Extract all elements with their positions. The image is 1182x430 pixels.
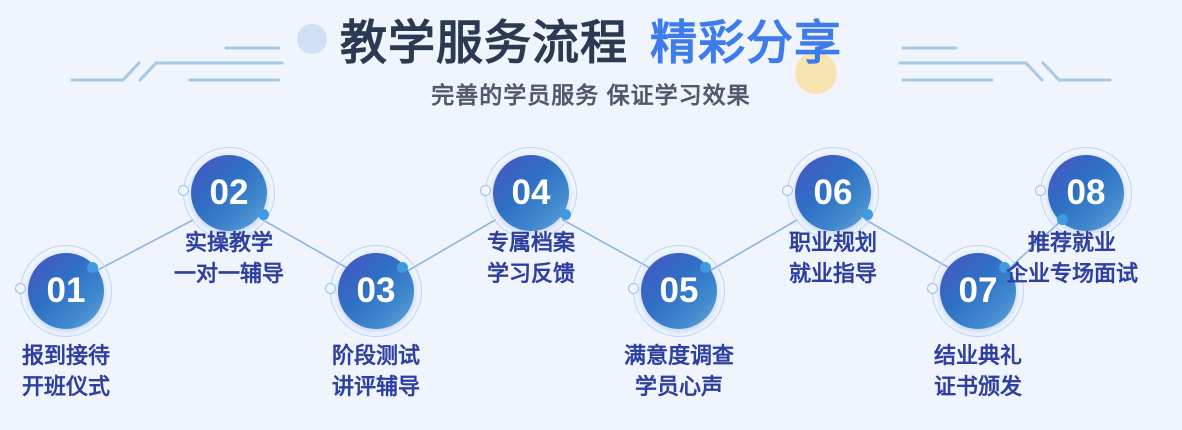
node-hollow-dot-icon <box>1035 185 1046 196</box>
node-anchor-dot-icon <box>1057 214 1068 225</box>
node-anchor-dot-icon <box>862 209 873 220</box>
step-label-line1: 推荐就业 <box>962 227 1182 258</box>
step-number: 06 <box>814 155 853 231</box>
step-label-01: 报到接待 开班仪式 <box>0 340 176 402</box>
step-label-line1: 结业典礼 <box>868 340 1088 371</box>
step-number: 01 <box>47 253 86 329</box>
step-label-04: 专属档案 学习反馈 <box>421 227 641 289</box>
step-number: 04 <box>512 155 551 231</box>
step-label-line1: 报到接待 <box>0 340 176 371</box>
header: 教学服务流程精彩分享 完善的学员服务 保证学习效果 <box>0 0 1182 125</box>
node-anchor-dot-icon <box>700 262 711 273</box>
node-hollow-dot-icon <box>927 283 938 294</box>
step-label-line1: 满意度调查 <box>569 340 789 371</box>
step-label-line2: 一对一辅导 <box>119 258 339 289</box>
process-flow: 01 报到接待 开班仪式 02 实操教学 一对一辅导 03 <box>0 125 1182 430</box>
node-hollow-dot-icon <box>628 283 639 294</box>
infographic-canvas: 教学服务流程精彩分享 完善的学员服务 保证学习效果 01 <box>0 0 1182 430</box>
title-primary: 教学服务流程 <box>340 14 628 72</box>
step-number: 08 <box>1067 155 1106 231</box>
page-subtitle: 完善的学员服务 保证学习效果 <box>0 80 1182 110</box>
step-number: 05 <box>660 253 699 329</box>
step-number: 02 <box>210 155 249 231</box>
node-hollow-dot-icon <box>178 185 189 196</box>
step-label-07: 结业典礼 证书颁发 <box>868 340 1088 402</box>
node-hollow-dot-icon <box>15 283 26 294</box>
node-disc: 04 <box>493 155 569 231</box>
node-disc: 06 <box>795 155 871 231</box>
node-anchor-dot-icon <box>560 209 571 220</box>
step-label-03: 阶段测试 讲评辅导 <box>266 340 486 402</box>
node-disc: 02 <box>191 155 267 231</box>
step-label-line1: 专属档案 <box>421 227 641 258</box>
title-secondary: 精彩分享 <box>650 14 842 72</box>
node-hollow-dot-icon <box>782 185 793 196</box>
step-label-line1: 实操教学 <box>119 227 339 258</box>
step-label-08: 推荐就业 企业专场面试 <box>962 227 1182 289</box>
page-title: 教学服务流程精彩分享 <box>0 14 1182 72</box>
step-label-05: 满意度调查 学员心声 <box>569 340 789 402</box>
step-label-06: 职业规划 就业指导 <box>723 227 943 289</box>
step-label-line1: 职业规划 <box>723 227 943 258</box>
step-label-line2: 学习反馈 <box>421 258 641 289</box>
node-anchor-dot-icon <box>258 209 269 220</box>
step-label-line1: 阶段测试 <box>266 340 486 371</box>
step-label-line2: 学员心声 <box>569 371 789 402</box>
step-label-line2: 企业专场面试 <box>962 258 1182 289</box>
node-hollow-dot-icon <box>480 185 491 196</box>
step-number: 03 <box>357 253 396 329</box>
step-label-line2: 开班仪式 <box>0 371 176 402</box>
node-anchor-dot-icon <box>397 262 408 273</box>
node-anchor-dot-icon <box>87 262 98 273</box>
step-label-02: 实操教学 一对一辅导 <box>119 227 339 289</box>
node-hollow-dot-icon <box>325 283 336 294</box>
step-label-line2: 讲评辅导 <box>266 371 486 402</box>
step-label-line2: 证书颁发 <box>868 371 1088 402</box>
step-label-line2: 就业指导 <box>723 258 943 289</box>
